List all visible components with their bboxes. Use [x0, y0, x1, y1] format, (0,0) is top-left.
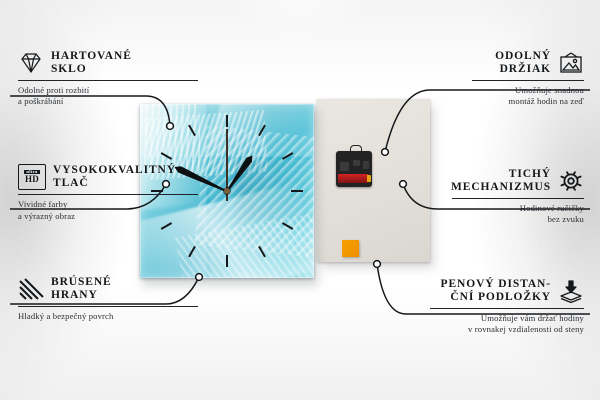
feature-silent-mechanism: TICHÝ MECHANIZMUS Hodinové ručičky bez z… — [452, 168, 584, 226]
connector-dot — [167, 123, 174, 130]
feature-sub-line1: Vividné farby — [18, 199, 198, 211]
feature-high-quality-print: ultra HD VYSOKOKVALITNÝ TLAČ Vividné far… — [18, 164, 198, 222]
connector-dot — [374, 261, 381, 268]
feature-title-line1: VYSOKOKVALITNÝ — [53, 164, 176, 177]
feature-durable-holder: ODOLNÝ DRŽIAK Umožňuje snadnou montáž ho… — [472, 50, 584, 108]
feature-sub-line2: a výrazný obraz — [18, 211, 198, 223]
feature-sub-line2: montáž hodin na zeď — [472, 96, 584, 108]
diagonal-stripes-icon — [18, 277, 44, 301]
feature-sub-line2: v rovnakej vzdialenosti od steny — [430, 324, 584, 336]
feature-tempered-glass: HARTOVANÉ SKLO Odolné proti rozbití a po… — [18, 50, 198, 108]
feature-title-line1: PENOVÝ DISTAN- — [441, 278, 551, 291]
feature-title-line1: ODOLNÝ — [495, 50, 551, 63]
connector-dot — [400, 181, 407, 188]
connector-dot — [382, 149, 389, 156]
divider — [452, 198, 584, 199]
feature-sub-line1: Odolné proti rozbití — [18, 85, 198, 97]
picture-frame-icon — [558, 51, 584, 75]
feature-title-line2: TLAČ — [53, 177, 176, 190]
stacked-layers-down-arrow-icon — [558, 279, 584, 303]
gear-icon — [558, 169, 584, 193]
ultra-hd-icon: ultra HD — [18, 164, 46, 190]
divider — [18, 80, 198, 81]
divider — [472, 80, 584, 81]
feature-title-line2: ČNÍ PODLOŽKY — [441, 291, 551, 304]
feature-sub-line1: Hladký a bezpečný povrch — [18, 311, 198, 323]
ultra-hd-big-label: HD — [25, 175, 39, 184]
feature-sub-line2: bez zvuku — [452, 214, 584, 226]
diamond-icon — [18, 51, 44, 75]
feature-title-line2: DRŽIAK — [495, 63, 551, 76]
feature-foam-spacers: PENOVÝ DISTAN- ČNÍ PODLOŽKY Umožňuje vám… — [430, 278, 584, 336]
feature-sub-line2: a poškrábání — [18, 96, 198, 108]
feature-title-line1: TICHÝ — [451, 168, 551, 181]
feature-title-line2: SKLO — [51, 63, 132, 76]
feature-sub-line1: Umožňuje snadnou — [472, 85, 584, 97]
feature-ground-edges: BRÚSENÉ HRANY Hladký a bezpečný povrch — [18, 276, 198, 322]
feature-sub-line1: Hodinové ručičky — [452, 203, 584, 215]
feature-title-line2: MECHANIZMUS — [451, 181, 551, 194]
product-infographic: HARTOVANÉ SKLO Odolné proti rozbití a po… — [0, 0, 600, 400]
feature-title-line1: BRÚSENÉ — [51, 276, 112, 289]
feature-sub-line1: Umožňuje vám držať hodiny — [430, 313, 584, 325]
divider — [430, 308, 584, 309]
divider — [18, 194, 198, 195]
feature-title-line1: HARTOVANÉ — [51, 50, 132, 63]
divider — [18, 306, 198, 307]
feature-title-line2: HRANY — [51, 289, 112, 302]
